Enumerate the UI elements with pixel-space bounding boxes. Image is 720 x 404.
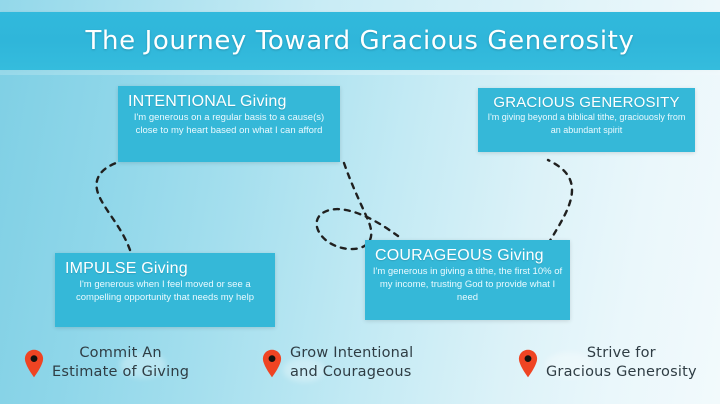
stage-description: I'm generous on a regular basis to a cau… [118,111,340,137]
stage-description: I'm generous in giving a tithe, the firs… [365,265,570,304]
milestone-label: Grow Intentional and Courageous [290,344,413,382]
milestone-line-1: Commit An [79,345,161,361]
map-pin-icon [262,349,282,378]
connector-impulse-to-intentional [97,163,130,250]
stage-card-intentional[interactable]: INTENTIONAL Giving I'm generous on a reg… [118,86,340,162]
milestone-grow[interactable]: Grow Intentional and Courageous [262,344,413,382]
milestone-line-1: Strive for [587,345,656,361]
stage-title: IMPULSE Giving [55,260,275,278]
stage-title: COURAGEOUS Giving [365,247,570,265]
connector-intentional-to-courageous [317,163,398,249]
milestone-label: Strive for Gracious Generosity [546,344,697,382]
slide-canvas: The Journey Toward Gracious Generosity I… [0,0,720,404]
milestone-strive[interactable]: Strive for Gracious Generosity [518,344,697,382]
milestone-commit[interactable]: Commit An Estimate of Giving [24,344,189,382]
milestone-line-2: and Courageous [290,364,411,380]
stage-card-gracious-generosity[interactable]: GRACIOUS GENEROSITY I'm giving beyond a … [478,88,695,152]
stage-description: I'm giving beyond a biblical tithe, grac… [478,111,695,136]
connector-courageous-to-gracious [548,160,572,244]
stage-card-courageous[interactable]: COURAGEOUS Giving I'm generous in giving… [365,240,570,320]
milestone-line-2: Estimate of Giving [52,364,189,380]
map-pin-icon [24,349,44,378]
stage-card-impulse[interactable]: IMPULSE Giving I'm generous when I feel … [55,253,275,327]
map-pin-icon [518,349,538,378]
stage-title: INTENTIONAL Giving [118,93,340,111]
stage-description: I'm generous when I feel moved or see a … [55,278,275,304]
stage-title: GRACIOUS GENEROSITY [478,94,695,111]
milestone-label: Commit An Estimate of Giving [52,344,189,382]
milestone-line-1: Grow Intentional [290,345,413,361]
milestone-line-2: Gracious Generosity [546,364,697,380]
